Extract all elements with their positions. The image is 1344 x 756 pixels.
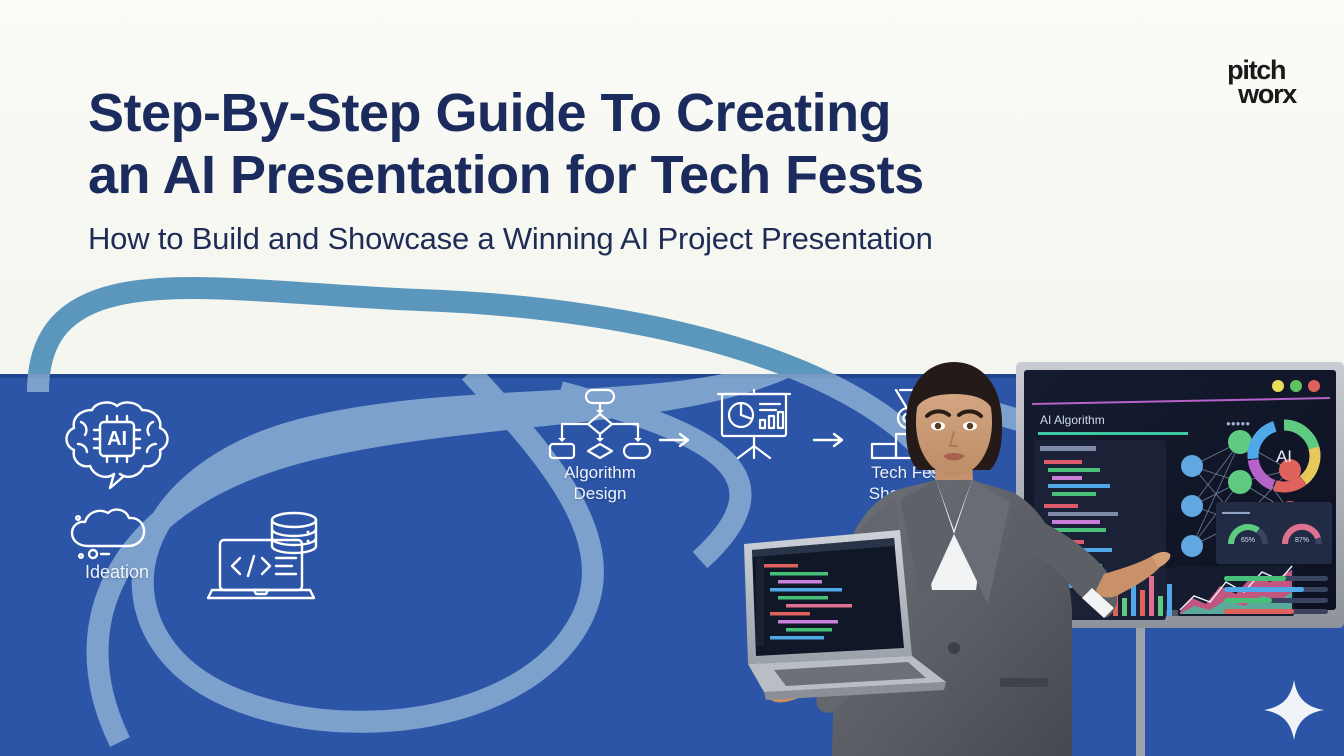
arrow-right-icon <box>658 430 694 450</box>
window-dot-yellow[interactable] <box>1272 380 1284 392</box>
window-dot-red[interactable] <box>1308 380 1320 392</box>
title-line-1: Step-By-Step Guide To Creating <box>88 82 1108 144</box>
brand-logo[interactable]: pitch worx <box>1227 58 1296 106</box>
window-dot-green[interactable] <box>1290 380 1302 392</box>
ideation-label: Ideation <box>52 562 182 583</box>
page-title: Step-By-Step Guide To Creating an AI Pre… <box>88 82 1108 258</box>
flow-arrow-1 <box>658 388 696 450</box>
flow-label-line-1: Algorithm <box>548 462 652 483</box>
screen-gauges-panel: ▬▬▬▬ 65% 87% <box>1216 502 1332 564</box>
screen-panel-title: AI Algorithm <box>1040 413 1105 427</box>
flowchart-icon <box>548 388 652 462</box>
gauge-right-value: 87% <box>1295 537 1309 544</box>
gauge-left-value: 65% <box>1241 537 1255 544</box>
screen-underline <box>1038 432 1188 435</box>
cloud-icon <box>52 502 182 560</box>
code-database-group <box>210 508 325 603</box>
ideation-group: AI Ideation <box>52 388 182 583</box>
laptop-code-icon <box>210 508 325 603</box>
donut-center-label: AI <box>1276 447 1292 466</box>
flow-label-line-2: Design <box>548 483 652 504</box>
slide-canvas: Step-By-Step Guide To Creating an AI Pre… <box>0 0 1344 756</box>
donut-panel-label: ●●●●● <box>1226 419 1250 428</box>
brain-ai-chip-icon: AI <box>52 388 182 508</box>
monitor-stand-right <box>1136 628 1145 756</box>
database-icon <box>272 513 316 553</box>
screen-progress-panel <box>1220 572 1332 616</box>
title-line-2: an AI Presentation for Tech Fests <box>88 144 1108 206</box>
presenter-photo: AI Algorithm <box>700 360 1344 756</box>
flow-step-algorithm-design: Algorithm Design <box>548 388 652 504</box>
logo-line-2: worx <box>1238 82 1296 106</box>
sparkle-icon <box>1262 678 1326 742</box>
gauges-panel-label: ▬▬▬▬ <box>1222 509 1250 516</box>
page-subtitle: How to Build and Showcase a Winning AI P… <box>88 220 1108 258</box>
brain-chip-label: AI <box>107 428 127 450</box>
